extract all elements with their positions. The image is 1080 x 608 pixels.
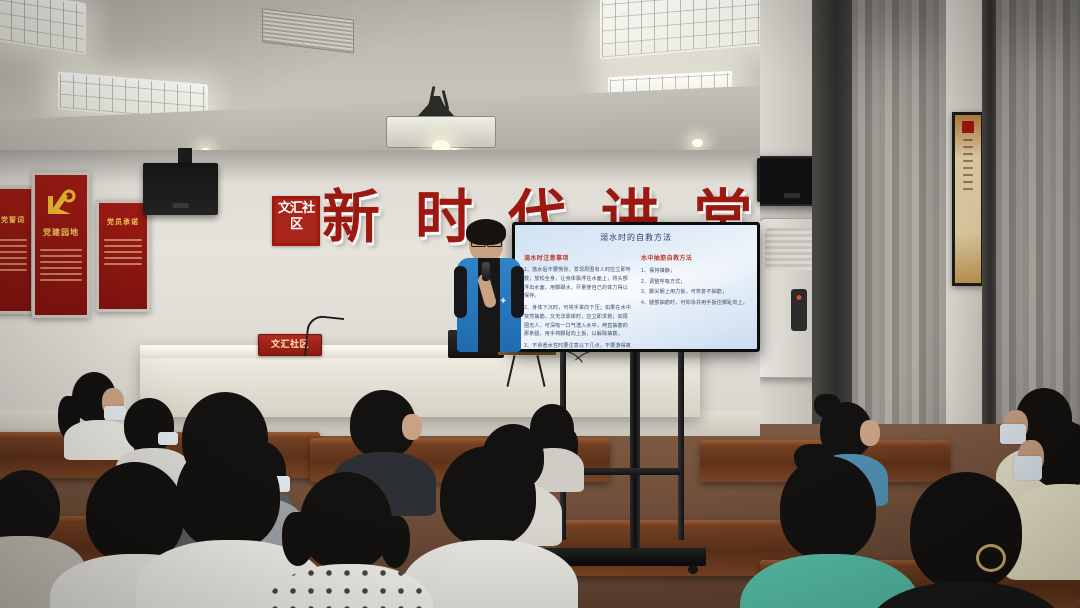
calligraphy-scroll [952,112,984,286]
glasses-icon [471,237,502,245]
downlight [692,139,703,147]
stand-caster [688,565,698,574]
face-mask [104,406,126,420]
hall-sign-char: 新 [322,188,380,246]
head [86,462,184,564]
ceiling-projector [386,96,494,158]
curtain [852,0,948,470]
presenter-sleeve [454,266,467,318]
presenter: ✦ [455,222,523,352]
projector-mount [416,96,456,118]
slide-title: 溺水时的自救方法 [515,232,757,243]
slide-list-item: 1、保持镇静； [641,266,748,277]
head [910,472,1022,590]
ac-power-led [796,295,801,300]
head [300,472,392,570]
slide-right-column: 水中抽筋自救方法 1、保持镇静； 2、调整呼吸方式； 3、脚尖朝上用力扳，可恢复… [641,253,748,341]
face [402,414,422,440]
photo-scene: 入党誓词 党建园地 党员承诺 文汇社区 新 时 代 讲 [0,0,1080,608]
hair-bun [814,394,840,418]
slide-left-heading: 溺水时注意事项 [524,253,631,262]
stand-rail [678,352,684,540]
slide-paragraph: 2、身体下沉时，可将手掌向下压；如果在水中突然抽筋，又无法靠岸时，应立即求救；如… [524,304,631,339]
stand-center-pole [630,352,640,552]
party-board: 入党誓词 [0,186,34,314]
face-mask [1014,456,1042,480]
party-board-title: 入党誓词 [0,215,31,225]
slide-list-item: 2、调整呼吸方式； [641,277,748,288]
slide-list-item: 3、脚尖朝上用力扳，可恢复不抽筋； [641,287,748,298]
party-board: 党建园地 [32,172,90,318]
scroll-seal-icon [962,121,974,133]
head [176,440,280,550]
party-board: 党员承诺 [96,200,150,312]
face [860,420,880,446]
party-board-title: 党员承诺 [99,217,147,227]
community-seal-stamp: 文汇社区 [272,196,320,246]
slide: 溺水时的自救方法 溺水时注意事项 1、落水后不要慌张，发现周围有人时应立即呼救；… [515,225,757,349]
ac-control-panel[interactable] [791,289,807,331]
cpc-emblem-icon [41,187,81,221]
presenter-sleeve [511,266,524,318]
party-board-title: 党建园地 [35,227,87,238]
slide-paragraph: 1、落水后不要慌张，发现周围有人时应立即呼救；放松全身，让身体飘浮在水面上，将头… [524,266,631,301]
slide-list-item: 4、腿部抽筋时，可仰泳并用手扳住脚趾向上。 [641,298,748,309]
speaker-bracket [178,148,192,164]
party-board-text [40,245,82,285]
slide-columns: 溺水时注意事项 1、落水后不要慌张，发现周围有人时应立即呼救；放松全身，让身体飘… [524,253,748,341]
pigtail [282,512,314,566]
face-mask [1000,424,1026,444]
party-board-text [0,235,27,275]
presentation-display[interactable]: 溺水时的自救方法 溺水时注意事项 1、落水后不要慌张，发现周围有人时应立即呼救；… [512,222,760,352]
head [440,446,536,546]
vest-logo-icon: ✦ [499,296,513,308]
slide-paragraph: 3、不熟悉水性时要注意以下几点，不要游得离岸太远。 [524,342,631,349]
hair-bun [794,444,834,474]
seal-text: 文汇社区 [275,201,317,233]
gold-hairclip [976,544,1006,572]
pigtail [380,516,410,568]
face-mask [158,432,178,445]
slide-left-column: 溺水时注意事项 1、落水后不要慌张，发现周围有人时应立即呼救；放松全身，让身体飘… [524,253,631,341]
gooseneck-microphone [304,314,344,360]
slide-right-heading: 水中抽筋自救方法 [641,253,748,262]
wall-speaker-left [143,163,218,215]
head [780,456,876,560]
handheld-microphone [482,262,490,281]
party-board-text [104,235,142,269]
